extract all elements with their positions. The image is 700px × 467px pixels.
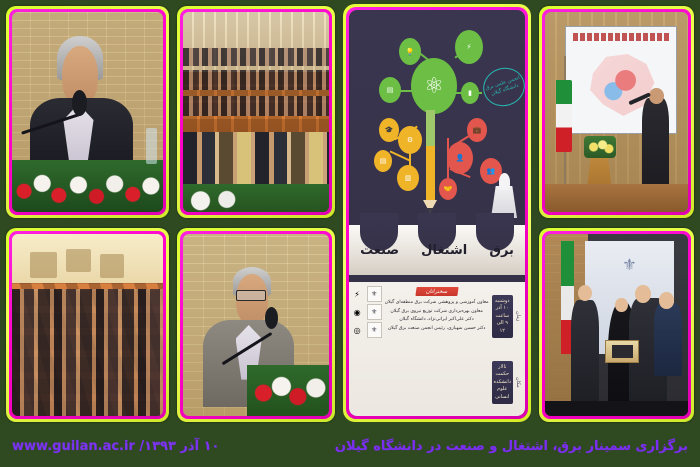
power-tower-icon: ⚡ (455, 30, 483, 64)
distribution-company-logo: ◉ (350, 304, 365, 320)
guilan-electric-logo: ⚡ (350, 286, 365, 302)
photo-frame-lecture-hall (6, 228, 169, 422)
projection-title-text (573, 33, 669, 40)
audience-row-back (183, 48, 329, 66)
speakers-header: سخنرانان (415, 287, 458, 296)
capacitor-icon: ▤ (379, 77, 401, 103)
footer-website-date[interactable]: ۱۰ آذر ۱۳۹۳/ www.guilan.ac.ir (12, 439, 219, 454)
water-bottle (146, 128, 157, 164)
person-screen-figure (654, 303, 683, 376)
photo-speaker-mic (12, 12, 163, 212)
meta-row-time: زمان دوشنبه ۱۰ آذر ساعت ۹ الی ۱۲ (492, 286, 521, 347)
photo-frame-auditorium (177, 6, 335, 218)
photo-auditorium-audience (183, 12, 329, 212)
lecture-audience (12, 289, 163, 416)
acoustic-panel (100, 254, 124, 278)
person-right-head (635, 285, 651, 303)
worker-icon: 👤 (447, 142, 473, 174)
acoustic-panel (30, 252, 57, 277)
presenter-body (642, 98, 669, 198)
association-logo-3: ⚜ (367, 322, 382, 338)
regional-electric-logo: ◎ (350, 322, 365, 338)
speaker-line: دکتر علی‌اکبر ایرانی‌نژاد، دانشگاه گیلان (399, 316, 473, 325)
logo-stack-sponsors: ⚡ ◉ ◎ (350, 286, 365, 413)
photo-seated-speaker (183, 234, 329, 416)
battery-icon: ▮ (461, 82, 479, 104)
lectern-flowers (584, 136, 617, 158)
handshake-icon: 🤝 (439, 178, 457, 200)
presenter-head (649, 88, 663, 104)
association-logo-1: ⚜ (367, 286, 382, 302)
front-flowers (183, 184, 329, 212)
photo-inner-border (9, 231, 166, 419)
collage-canvas: 💡 ⚡ ▤ ▮ ⚛ انجمن علمی برق دانشگاه گیلان 🎓 (0, 0, 700, 467)
logo-stack-associations: ⚜ ⚜ ⚜ (367, 286, 382, 413)
association-stamp: انجمن علمی برق دانشگاه گیلان (478, 62, 525, 111)
person-center-head (615, 298, 628, 313)
ribbon-word-eshteghal: اشتغال (421, 243, 467, 258)
university-emblem-icon: ⚜ (622, 255, 636, 274)
poster-inner-border: 💡 ⚡ ▤ ▮ ⚛ انجمن علمی برق دانشگاه گیلان 🎓 (346, 7, 528, 419)
meta-time-line-1: دوشنبه ۱۰ آذر (494, 298, 511, 313)
photo-lecture-hall-crowd (12, 234, 163, 416)
atom-icon: ⚛ (411, 58, 457, 114)
photo-frame-presenter-map (539, 6, 694, 218)
ribbon-word-sanat: صنعت (360, 243, 399, 258)
association-logo-2: ⚜ (367, 304, 382, 320)
footer-event-title: برگزاری سمینار برق، اشتغال و صنعت در دان… (335, 439, 688, 454)
seminar-poster-frame: 💡 ⚡ ▤ ▮ ⚛ انجمن علمی برق دانشگاه گیلان 🎓 (343, 4, 531, 422)
photo-inner-border: ⚜ (542, 231, 691, 419)
meta-time-line-2: ساعت ۹ الی ۱۲ (494, 313, 511, 336)
trunk-pencil-body (426, 146, 435, 202)
floor (545, 184, 688, 212)
photo-award-ceremony: ⚜ (545, 234, 688, 416)
audience-row-mid (183, 70, 329, 90)
stage-floor (545, 401, 688, 416)
poster-logos-column: ⚡ ◉ ◎ ⚜ ⚜ ⚜ (350, 286, 382, 413)
book-icon: ▤ (374, 150, 392, 172)
flower-bouquet (12, 160, 163, 212)
flower-bouquet (247, 365, 329, 416)
poster-info-body: زمان دوشنبه ۱۰ آذر ساعت ۹ الی ۱۲ مکان تا… (349, 282, 525, 416)
speaker-line: دکتر حسین شهبازی، رئیس انجمن صنعت برق گی… (388, 325, 486, 334)
microphone-icon (265, 307, 278, 329)
trunk-upper (426, 110, 435, 148)
ribbon-word-barq: برق (489, 243, 514, 258)
plaque-engraving (612, 345, 633, 358)
photo-inner-border (542, 9, 691, 215)
meta-box-time: دوشنبه ۱۰ آذر ساعت ۹ الی ۱۲ (492, 295, 513, 339)
poster-graphic-area: 💡 ⚡ ▤ ▮ ⚛ انجمن علمی برق دانشگاه گیلان 🎓 (349, 10, 525, 237)
meta-label-place: مکان (515, 377, 521, 388)
audience-front-row (183, 132, 329, 184)
ribbon-words: برق اشتغال صنعت (349, 225, 525, 275)
graduation-cap-icon: 🎓 (379, 118, 399, 142)
person-left-body (571, 300, 600, 406)
meta-place-line-1: تالار حکمت (494, 364, 511, 379)
meta-box-place: تالار حکمت دانشکده علوم انسانی (492, 361, 513, 405)
seminar-poster: 💡 ⚡ ▤ ▮ ⚛ انجمن علمی برق دانشگاه گیلان 🎓 (349, 10, 525, 416)
study-desk-icon: ▥ (397, 165, 419, 191)
footer-bar: ۱۰ آذر ۱۳۹۳/ www.guilan.ac.ir برگزاری سم… (0, 425, 700, 467)
poster-ribbon: برق اشتغال صنعت (349, 213, 525, 282)
person-screen-head (659, 292, 673, 308)
gear-icon: ⚙ (398, 126, 422, 154)
photo-inner-border (180, 9, 332, 215)
photo-inner-border (9, 9, 166, 215)
speaker-line: معاون بهره‌برداری شرکت توزیع نیروی برق گ… (390, 308, 482, 317)
iran-flag (556, 80, 572, 152)
meta-place-line-2: دانشکده علوم انسانی (494, 379, 511, 402)
glasses-icon (236, 290, 267, 301)
photo-frame-award: ⚜ (539, 228, 694, 422)
poster-meta-column: زمان دوشنبه ۱۰ آذر ساعت ۹ الی ۱۲ مکان تا… (492, 286, 521, 413)
photo-presenter-map (545, 12, 688, 212)
award-plaque (605, 340, 639, 364)
acoustic-panel (66, 249, 90, 273)
lightbulb-icon: 💡 (399, 38, 421, 65)
photo-frame-speaker-mic (6, 6, 169, 218)
briefcase-person-icon: 💼 (467, 118, 487, 142)
meta-row-place: مکان تالار حکمت دانشکده علوم انسانی (492, 352, 521, 413)
meta-label-time: زمان (515, 311, 521, 321)
podium-speaker-figure (499, 173, 510, 190)
photo-inner-border (180, 231, 332, 419)
audience-row-mid2 (183, 96, 329, 116)
photo-frame-seated-speaker (177, 228, 335, 422)
speaker-line: معاون آموزشی و پژوهشی شرکت برق منطقه‌ای … (385, 299, 489, 308)
poster-speakers-column: سخنرانان معاون آموزشی و پژوهشی شرکت برق … (385, 286, 489, 413)
